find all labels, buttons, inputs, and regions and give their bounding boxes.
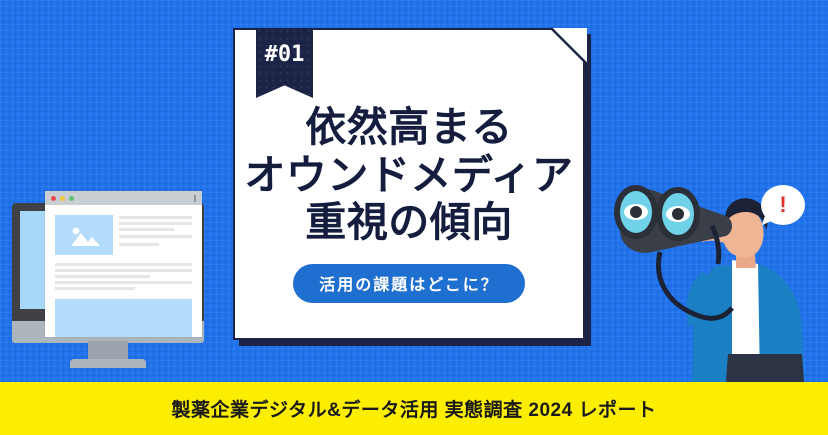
exclamation-icon: ! <box>761 185 805 225</box>
footer-title: 製薬企業デジタル&データ活用 実態調査 2024 レポート <box>172 395 657 422</box>
eye-pupil <box>672 208 684 220</box>
title-block: 依然高まる オウンドメディア 重視の傾向 <box>233 106 585 244</box>
eye-pupil <box>630 206 642 218</box>
browser-content-block <box>55 299 192 337</box>
browser-text-line <box>119 216 192 219</box>
browser-menu-icon <box>194 195 196 202</box>
ribbon-label: #01 <box>265 42 305 67</box>
browser-maximize-dot-icon <box>69 196 74 201</box>
monitor-stand-base <box>70 359 146 368</box>
title-line-1: 依然高まる <box>233 106 585 149</box>
title-line-2: オウンドメディア <box>233 154 585 197</box>
browser-text-line <box>55 287 135 290</box>
browser-close-dot-icon <box>51 196 56 201</box>
person-trousers <box>726 354 804 382</box>
browser-text-line <box>119 235 192 238</box>
browser-minimize-dot-icon <box>60 196 65 201</box>
footer-banner: 製薬企業デジタル&データ活用 実態調査 2024 レポート <box>0 382 828 435</box>
browser-text-line <box>55 275 150 278</box>
browser-text-line <box>55 281 192 284</box>
browser-window-mockup <box>45 191 202 337</box>
browser-text-line <box>119 228 174 231</box>
subtitle-pill[interactable]: 活用の課題はどこに？ <box>293 264 525 303</box>
image-placeholder-icon <box>69 225 101 247</box>
title-line-3: 重視の傾向 <box>233 201 585 244</box>
browser-image-placeholder <box>55 215 113 255</box>
slide-canvas: ! 依然高まる オウンドメディア 重視の傾向 活用の課題はどこに？ #01 製薬… <box>0 0 828 435</box>
browser-text-line <box>55 269 192 272</box>
browser-text-line <box>55 263 192 266</box>
browser-text-line <box>119 243 159 246</box>
browser-text-line <box>119 222 192 225</box>
